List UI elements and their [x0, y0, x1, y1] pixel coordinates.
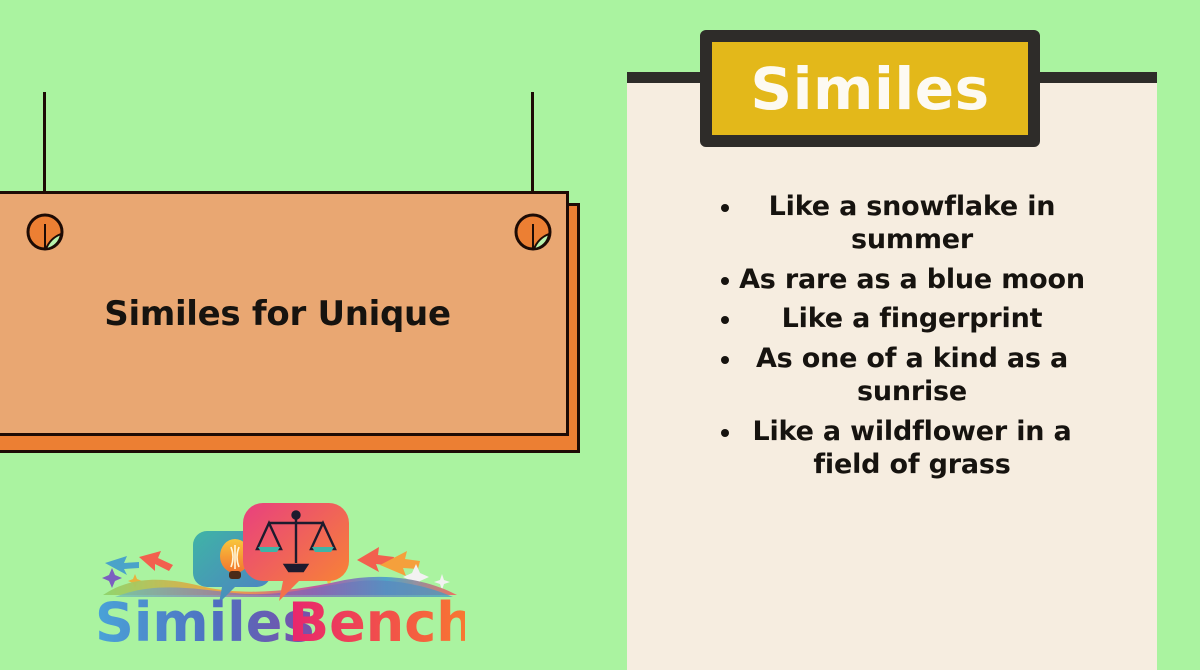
- logo-word-second: Bench: [288, 593, 465, 654]
- bullet-dot-icon: [721, 316, 729, 324]
- list-item: As rare as a blue moon: [722, 263, 1102, 296]
- logo[interactable]: Similes Bench: [95, 495, 465, 660]
- list-item-label: Like a wildflower in a field of grass: [752, 416, 1071, 480]
- logo-word-first: Similes: [95, 593, 314, 654]
- bullet-dot-icon: [721, 429, 729, 437]
- arrow-left-icon: [139, 551, 173, 571]
- banner-title: Similes: [750, 60, 989, 118]
- logo-wordmark: Similes Bench: [95, 593, 465, 655]
- similes-list: Like a snowflake in summer As rare as a …: [700, 190, 1102, 488]
- title-card: Similes for Unique: [0, 191, 569, 436]
- banner-box: Similes: [700, 30, 1040, 147]
- list-item: As one of a kind as a sunrise: [722, 342, 1102, 409]
- card-title: Similes for Unique: [104, 294, 450, 334]
- list-item-label: As one of a kind as a sunrise: [756, 343, 1068, 407]
- bullet-dot-icon: [721, 204, 729, 212]
- arrow-left-icon: [105, 556, 139, 575]
- list-item: Like a snowflake in summer: [722, 190, 1102, 257]
- hanging-circle-ornament-right: [513, 212, 553, 252]
- list-item-label: As rare as a blue moon: [739, 264, 1085, 295]
- bullet-dot-icon: [721, 277, 729, 285]
- list-item-label: Like a snowflake in summer: [769, 191, 1056, 255]
- list-item: Like a fingerprint: [722, 302, 1102, 335]
- circle-ornament-icon: [513, 212, 553, 252]
- circle-ornament-icon: [25, 212, 65, 252]
- banner-rail-right: [1025, 72, 1157, 83]
- list-item: Like a wildflower in a field of grass: [722, 415, 1102, 482]
- hanging-circle-ornament-left: [25, 212, 65, 252]
- poster-canvas: Similes Like a snowflake in summer As ra…: [0, 0, 1200, 670]
- logo-mark-icon: [95, 495, 465, 605]
- sparkle-icon: [102, 568, 122, 588]
- bullet-dot-icon: [721, 356, 729, 364]
- list-item-label: Like a fingerprint: [782, 303, 1043, 334]
